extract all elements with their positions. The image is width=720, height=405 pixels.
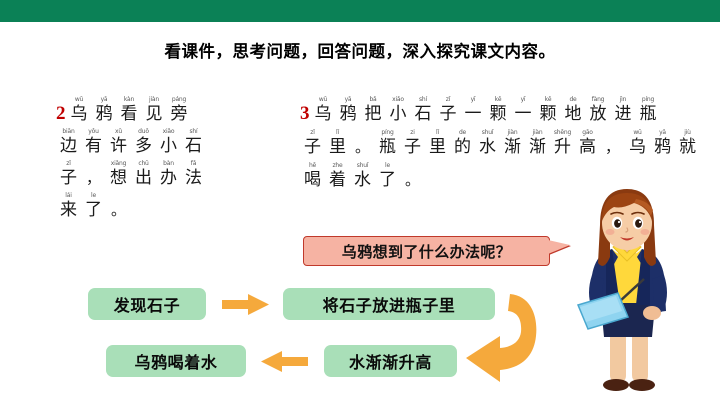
- pinyin: píng: [381, 129, 393, 137]
- pinyin: páng: [172, 96, 186, 104]
- flow-box-discover-stones[interactable]: 发现石子: [88, 288, 206, 320]
- arrow-right-icon: [222, 294, 270, 315]
- hanzi: 的: [454, 137, 471, 157]
- flow-box-label: 乌鸦喝着水: [134, 349, 217, 373]
- hanzi: 渐: [504, 137, 521, 157]
- flow-box-crow-drinks-water[interactable]: 乌鸦喝着水: [106, 345, 246, 377]
- pinyin: le: [385, 162, 390, 170]
- char-cell: yǒu有: [81, 128, 106, 156]
- char-cell: hē喝: [300, 162, 325, 190]
- pinyin: kàn: [124, 96, 134, 104]
- hanzi: 小: [390, 104, 407, 124]
- pinyin: le: [91, 192, 96, 200]
- hanzi: 许: [110, 136, 127, 156]
- passage-left-line: lái来le了。: [56, 192, 206, 220]
- char-cell: 。: [400, 162, 425, 190]
- char-cell: xiǎo小: [156, 128, 181, 156]
- hanzi: 渐: [529, 137, 546, 157]
- char-cell: xiǎng想: [106, 160, 131, 188]
- char-cell: ，: [81, 160, 106, 188]
- char-cell: jiàn见: [142, 96, 167, 124]
- pinyin: biān: [62, 128, 74, 136]
- char-cell: wū乌: [311, 96, 336, 124]
- pinyin: lái: [65, 192, 71, 200]
- passage-right-number: 3: [300, 104, 311, 123]
- hanzi: 放: [590, 104, 607, 124]
- passage-left-line: 2wū乌yā鸦kàn看jiàn见páng旁: [56, 96, 206, 124]
- hanzi: 子: [60, 168, 77, 188]
- pinyin: de: [459, 129, 466, 137]
- pinyin: shuǐ: [482, 129, 494, 137]
- char-cell: zǐ子: [56, 160, 81, 188]
- pinyin: shí: [419, 96, 427, 104]
- char-cell: wū乌: [625, 129, 650, 157]
- hanzi: 乌: [629, 137, 646, 157]
- pinyin: bàn: [163, 160, 174, 168]
- char-cell: bǎ把: [361, 96, 386, 124]
- hanzi: 乌: [315, 104, 332, 124]
- hanzi: 里: [429, 137, 446, 157]
- hanzi: 看: [121, 104, 138, 124]
- hanzi: 出: [135, 168, 152, 188]
- hanzi: 乌: [71, 104, 88, 124]
- pinyin: yī: [521, 96, 526, 104]
- pinyin: kē: [495, 96, 502, 104]
- pinyin: zi: [410, 129, 414, 137]
- char-cell: lǐ里: [325, 129, 350, 157]
- hanzi: 高: [579, 137, 596, 157]
- char-cell: kē颗: [486, 96, 511, 124]
- hanzi: 法: [185, 168, 202, 188]
- pinyin: chū: [138, 160, 148, 168]
- char-cell: yī一: [461, 96, 486, 124]
- pinyin: fǎ: [191, 160, 196, 168]
- hanzi: 了: [379, 170, 396, 190]
- char-cell: jiàn渐: [500, 129, 525, 157]
- hanzi: 有: [85, 136, 102, 156]
- flow-box-label: 将石子放进瓶子里: [323, 292, 456, 316]
- pinyin: fàng: [592, 96, 605, 104]
- passage-left-number: 2: [56, 104, 67, 123]
- char-cell: xǔ许: [106, 128, 131, 156]
- hanzi: 进: [615, 104, 632, 124]
- char-cell: fǎ法: [181, 160, 206, 188]
- char-cell: jìn进: [611, 96, 636, 124]
- char-cell: yā鸦: [336, 96, 361, 124]
- hanzi: 里: [329, 137, 346, 157]
- char-cell: wū乌: [67, 96, 92, 124]
- char-cell: yā鸦: [650, 129, 675, 157]
- hanzi: 升: [554, 137, 571, 157]
- hanzi: 水: [354, 170, 371, 190]
- arrow-curve-down-left-icon: [452, 292, 542, 384]
- pinyin: yā: [345, 96, 352, 104]
- char-cell: chū出: [131, 160, 156, 188]
- hanzi: 子: [304, 137, 321, 157]
- pinyin: yā: [659, 129, 666, 137]
- char-cell: yā鸦: [92, 96, 117, 124]
- pinyin: wū: [75, 96, 83, 104]
- pinyin: de: [569, 96, 576, 104]
- passage-right: 3wū乌yā鸦bǎ把xiǎo小shí石zǐ子yī一kē颗yī一kē颗de地fàn…: [300, 96, 700, 195]
- hanzi: ，: [605, 137, 620, 157]
- hanzi: 一: [465, 104, 482, 124]
- hanzi: 喝: [304, 170, 321, 190]
- hanzi: 着: [329, 170, 346, 190]
- pinyin: duō: [138, 128, 149, 136]
- char-cell: jiù就: [675, 129, 700, 157]
- hanzi: 颗: [490, 104, 507, 124]
- teacher-character: [556, 183, 696, 405]
- hanzi: 瓶: [379, 137, 396, 157]
- pinyin: wū: [633, 129, 641, 137]
- passage-left: 2wū乌yā鸦kàn看jiàn见páng旁biān边yǒu有xǔ许duō多xiǎ…: [56, 96, 206, 224]
- char-cell: fàng放: [586, 96, 611, 124]
- char-cell: zhe着: [325, 162, 350, 190]
- passage-right-line: zǐ子lǐ里。píng瓶zi子lǐ里de的shuǐ水jiàn渐jiàn渐shēn…: [300, 129, 700, 157]
- char-cell: kē颗: [536, 96, 561, 124]
- pinyin: shuǐ: [357, 162, 369, 170]
- hanzi: 子: [440, 104, 457, 124]
- slide-canvas: 看课件，思考问题，回答问题，深入探究课文内容。 2wū乌yā鸦kàn看jiàn见…: [0, 0, 720, 405]
- passage-right-line: 3wū乌yā鸦bǎ把xiǎo小shí石zǐ子yī一kē颗yī一kē颗de地fàn…: [300, 96, 700, 124]
- hanzi: 。: [111, 200, 126, 220]
- hanzi: 了: [85, 200, 102, 220]
- char-cell: shēng升: [550, 129, 575, 157]
- char-cell: shí石: [411, 96, 436, 124]
- hanzi: 鸦: [654, 137, 671, 157]
- pinyin: bǎ: [369, 96, 376, 104]
- pinyin: zǐ: [446, 96, 450, 104]
- pinyin: zhe: [332, 162, 342, 170]
- char-cell: bàn办: [156, 160, 181, 188]
- hanzi: 地: [565, 104, 582, 124]
- pinyin: shēng: [554, 129, 571, 137]
- char-cell: 。: [106, 192, 131, 220]
- pinyin: jiàn: [149, 96, 159, 104]
- pinyin: hē: [309, 162, 316, 170]
- char-cell: biān边: [56, 128, 81, 156]
- hanzi: 见: [146, 104, 163, 124]
- pinyin: jiù: [684, 129, 691, 137]
- pinyin: shí: [190, 128, 198, 136]
- char-cell: lái来: [56, 192, 81, 220]
- arrow-left-icon: [260, 351, 308, 372]
- hanzi: 子: [404, 137, 421, 157]
- hanzi: 石: [185, 136, 202, 156]
- flow-box-label: 水渐渐升高: [349, 349, 432, 373]
- char-cell: de地: [561, 96, 586, 124]
- pinyin: xiǎng: [111, 160, 127, 168]
- hanzi: 办: [160, 168, 177, 188]
- hanzi: 边: [60, 136, 77, 156]
- page-title: 看课件，思考问题，回答问题，深入探究课文内容。: [0, 38, 720, 62]
- char-cell: píng瓶: [375, 129, 400, 157]
- header-green-bar: [0, 0, 720, 22]
- flow-box-water-rises[interactable]: 水渐渐升高: [324, 345, 457, 377]
- hanzi: 小: [160, 136, 177, 156]
- char-cell: yī一: [511, 96, 536, 124]
- char-cell: páng旁: [167, 96, 192, 124]
- hanzi: 。: [405, 170, 420, 190]
- pinyin: jiàn: [532, 129, 542, 137]
- passage-left-line: biān边yǒu有xǔ许duō多xiǎo小shí石: [56, 128, 206, 156]
- hanzi: ，: [86, 168, 101, 188]
- hanzi: 鸦: [340, 104, 357, 124]
- hanzi: 把: [365, 104, 382, 124]
- pinyin: yī: [471, 96, 476, 104]
- hanzi: 来: [60, 200, 77, 220]
- hanzi: 。: [355, 137, 370, 157]
- hanzi: 一: [515, 104, 532, 124]
- pinyin: xiǎo: [392, 96, 404, 104]
- pinyin: xiǎo: [163, 128, 175, 136]
- hanzi: 想: [110, 168, 127, 188]
- hanzi: 水: [479, 137, 496, 157]
- passage-left-line: zǐ子，xiǎng想chū出bàn办fǎ法: [56, 160, 206, 188]
- char-cell: zǐ子: [300, 129, 325, 157]
- pinyin: yǒu: [88, 128, 98, 136]
- pinyin: jìn: [620, 96, 627, 104]
- char-cell: le了: [81, 192, 106, 220]
- char-cell: duō多: [131, 128, 156, 156]
- char-cell: shí石: [181, 128, 206, 156]
- char-cell: le了: [375, 162, 400, 190]
- pinyin: gāo: [582, 129, 593, 137]
- char-cell: píng瓶: [636, 96, 661, 124]
- hanzi: 瓶: [640, 104, 657, 124]
- char-cell: zi子: [400, 129, 425, 157]
- char-cell: gāo高: [575, 129, 600, 157]
- pinyin: xǔ: [115, 128, 122, 136]
- char-cell: lǐ里: [425, 129, 450, 157]
- char-cell: ，: [600, 129, 625, 157]
- flow-box-label: 发现石子: [114, 292, 180, 316]
- char-cell: jiàn渐: [525, 129, 550, 157]
- pinyin: yā: [101, 96, 108, 104]
- char-cell: de的: [450, 129, 475, 157]
- pinyin: wū: [319, 96, 327, 104]
- char-cell: 。: [350, 129, 375, 157]
- hanzi: 多: [135, 136, 152, 156]
- hanzi: 就: [679, 137, 696, 157]
- pinyin: píng: [642, 96, 654, 104]
- hanzi: 鸦: [96, 104, 113, 124]
- pinyin: zǐ: [310, 129, 314, 137]
- char-cell: shuǐ水: [475, 129, 500, 157]
- char-cell: kàn看: [117, 96, 142, 124]
- char-cell: zǐ子: [436, 96, 461, 124]
- hanzi: 旁: [171, 104, 188, 124]
- pinyin: kē: [545, 96, 552, 104]
- pinyin: jiàn: [507, 129, 517, 137]
- question-bubble-text: 乌鸦想到了什么办法呢？: [342, 241, 511, 262]
- pinyin: lǐ: [436, 129, 439, 137]
- pinyin: zǐ: [66, 160, 70, 168]
- hanzi: 颗: [540, 104, 557, 124]
- char-cell: xiǎo小: [386, 96, 411, 124]
- hanzi: 石: [415, 104, 432, 124]
- question-bubble: 乌鸦想到了什么办法呢？: [303, 236, 550, 266]
- pinyin: lǐ: [336, 129, 339, 137]
- char-cell: shuǐ水: [350, 162, 375, 190]
